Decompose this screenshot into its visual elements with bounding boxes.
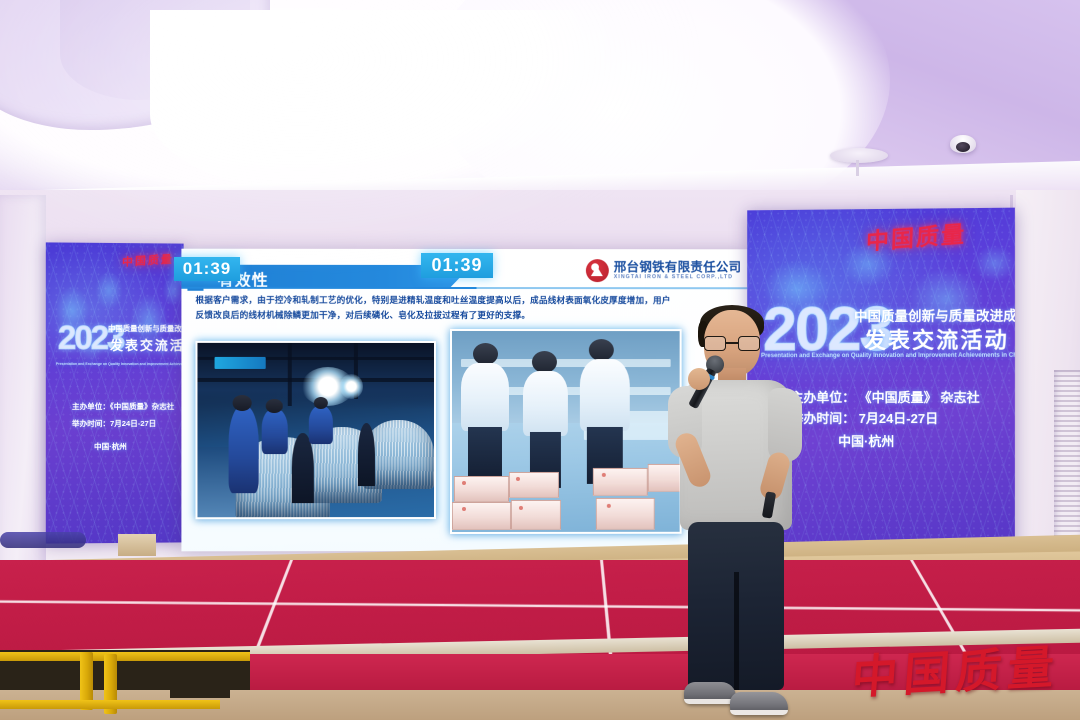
banner-location-right: 中国·杭州 (838, 431, 894, 450)
coil-divider (358, 423, 375, 486)
factory-worker-head (233, 395, 252, 411)
person-pants (468, 427, 502, 479)
glasses-bridge (726, 342, 738, 344)
factory-column (287, 343, 291, 406)
xingtai-steel-logo-icon (586, 259, 609, 282)
coil-divider (292, 434, 313, 504)
presenter-hand-left (688, 368, 710, 390)
factory-lamp (339, 374, 363, 398)
presenter-leg-gap (734, 572, 739, 690)
understage-shadow (170, 664, 230, 698)
led-video-wall: 中国质量 2023 中国质量创新与质量改进成果 发表交流活动 Presentat… (46, 205, 1016, 555)
presenter-shoe-left (684, 682, 736, 704)
banner-title-line2-right: 发表交流活动 (864, 323, 1009, 355)
factory-worker-head (266, 399, 283, 413)
product-crate (454, 476, 509, 502)
product-crate (595, 498, 654, 530)
factory-worker (261, 409, 287, 454)
led-pixel-texture (46, 242, 184, 543)
banner-title-line2-left: 发表交流活动 (110, 335, 184, 354)
company-logo: 邢台钢铁有限责任公司 XINGTAI IRON & STEEL CORP.,LT… (586, 259, 742, 282)
stage-frame-beam (0, 652, 250, 661)
factory-worker (228, 406, 259, 493)
led-panel-left-banner: 中国质量 2023 中国质量创新与质量改进成果 发表交流活动 Presentat… (46, 242, 184, 543)
company-name-cn: 邢台钢铁有限责任公司 (614, 261, 742, 274)
conference-stage-scene: 中国质量 2023 中国质量创新与质量改进成果 发表交流活动 Presentat… (0, 0, 1080, 720)
banner-location-left: 中国·杭州 (94, 441, 127, 452)
glasses-icon (704, 336, 760, 351)
floor-prop-box (118, 534, 156, 556)
presenter-shoe-right (730, 692, 788, 715)
slide-body-text: 根据客户需求，由于控冷和轧制工艺的优化，特别是进精轧温度和吐丝温度提高以后，成品… (195, 293, 733, 323)
dome-camera-icon (950, 135, 976, 153)
glasses-left-lens (704, 336, 726, 351)
banner-date-left: 举办时间：7月24日-27日 (72, 418, 156, 429)
person-shirt (580, 359, 630, 431)
person-head (473, 343, 498, 365)
person-head (532, 351, 557, 373)
presenter-sleeve-right (768, 388, 802, 462)
watermark-logo: 中国质量 (850, 630, 1062, 707)
factory-sign (214, 357, 266, 369)
ceiling-speaker-icon (830, 148, 888, 163)
person-head (589, 339, 614, 361)
product-crate (511, 500, 561, 530)
slide-photo-factory (195, 341, 436, 519)
banner-title-line1-left: 中国质量创新与质量改进成果 (108, 323, 184, 334)
brush-logo-left: 中国质量 (122, 251, 174, 270)
stage-seam-horizontal (0, 600, 1080, 613)
factory-worker-head (313, 397, 327, 409)
product-crate (452, 502, 511, 530)
person-shirt (523, 371, 569, 435)
countdown-timer-right: 01:39 (421, 253, 493, 278)
glasses-right-lens (738, 336, 760, 351)
countdown-timer-left: 01:39 (174, 257, 240, 281)
stage-frame-beam (0, 700, 220, 709)
slide-body-line-1: 根据客户需求，由于控冷和轧制工艺的优化，特别是进精轧温度和吐丝温度提高以后，成品… (195, 293, 733, 308)
banner-organizer-left: 主办单位：《中国质量》杂志社 (72, 401, 174, 412)
person-shirt (461, 363, 509, 431)
presenter (660, 310, 820, 720)
factory-worker (309, 406, 333, 444)
slide-body-line-2: 反馈改良后的线材机械除鳞更加干净，对后续磷化、皂化及拉拔过程有了更好的支撑。 (195, 308, 733, 323)
slide-photo-meeting (450, 329, 682, 534)
company-name-en: XINGTAI IRON & STEEL CORP.,LTD (614, 274, 742, 280)
product-crate (509, 472, 559, 498)
floor-prop-roll (0, 532, 86, 548)
banner-subtitle-en-left: Presentation and Exchange on Quality Inn… (56, 362, 184, 366)
product-crate (593, 468, 648, 496)
